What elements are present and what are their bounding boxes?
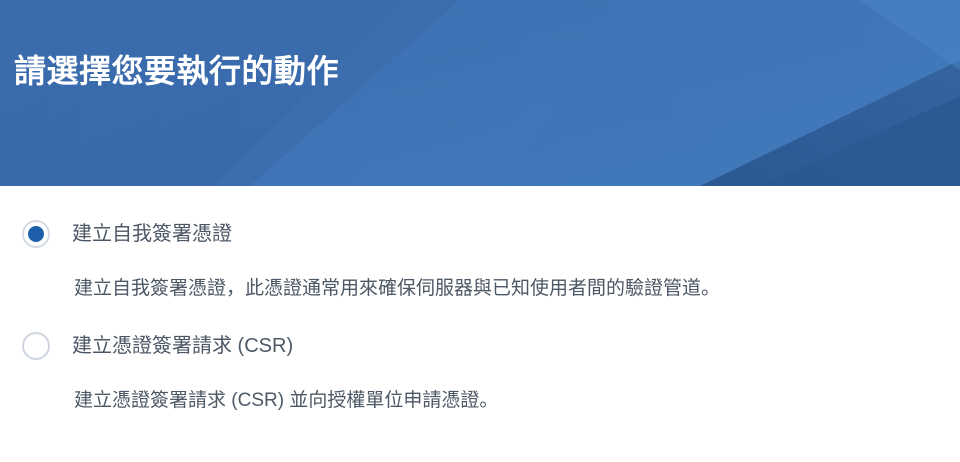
radio-dot-icon [28,338,44,354]
option-description-certificate-signing-request: 建立憑證簽署請求 (CSR) 並向授權單位申請憑證。 [0,364,960,434]
radio-unselected-icon[interactable] [22,332,50,360]
option-label-certificate-signing-request: 建立憑證簽署請求 (CSR) [72,333,293,359]
radio-selected-icon[interactable] [22,220,50,248]
option-label-self-signed-certificate: 建立自我簽署憑證 [72,221,232,247]
header-background-art [0,0,960,186]
page-body: 建立自我簽署憑證 建立自我簽署憑證，此憑證通常用來確保伺服器與已知使用者間的驗證… [0,186,960,462]
option-description-self-signed-certificate: 建立自我簽署憑證，此憑證通常用來確保伺服器與已知使用者間的驗證管道。 [0,252,960,322]
option-row-self-signed-certificate[interactable]: 建立自我簽署憑證 [0,216,960,252]
page-header: 請選擇您要執行的動作 [0,0,960,186]
radio-dot-icon [28,226,44,242]
option-self-signed-certificate[interactable]: 建立自我簽署憑證 建立自我簽署憑證，此憑證通常用來確保伺服器與已知使用者間的驗證… [0,216,960,322]
option-row-certificate-signing-request[interactable]: 建立憑證簽署請求 (CSR) [0,328,960,364]
option-certificate-signing-request[interactable]: 建立憑證簽署請求 (CSR) 建立憑證簽署請求 (CSR) 並向授權單位申請憑證… [0,328,960,434]
action-radio-group[interactable]: 建立自我簽署憑證 建立自我簽署憑證，此憑證通常用來確保伺服器與已知使用者間的驗證… [0,186,960,434]
page-title: 請選擇您要執行的動作 [14,50,339,92]
certificate-action-page: 請選擇您要執行的動作 建立自我簽署憑證 建立自我簽署憑證，此憑證通常用來確保伺服… [0,0,960,462]
